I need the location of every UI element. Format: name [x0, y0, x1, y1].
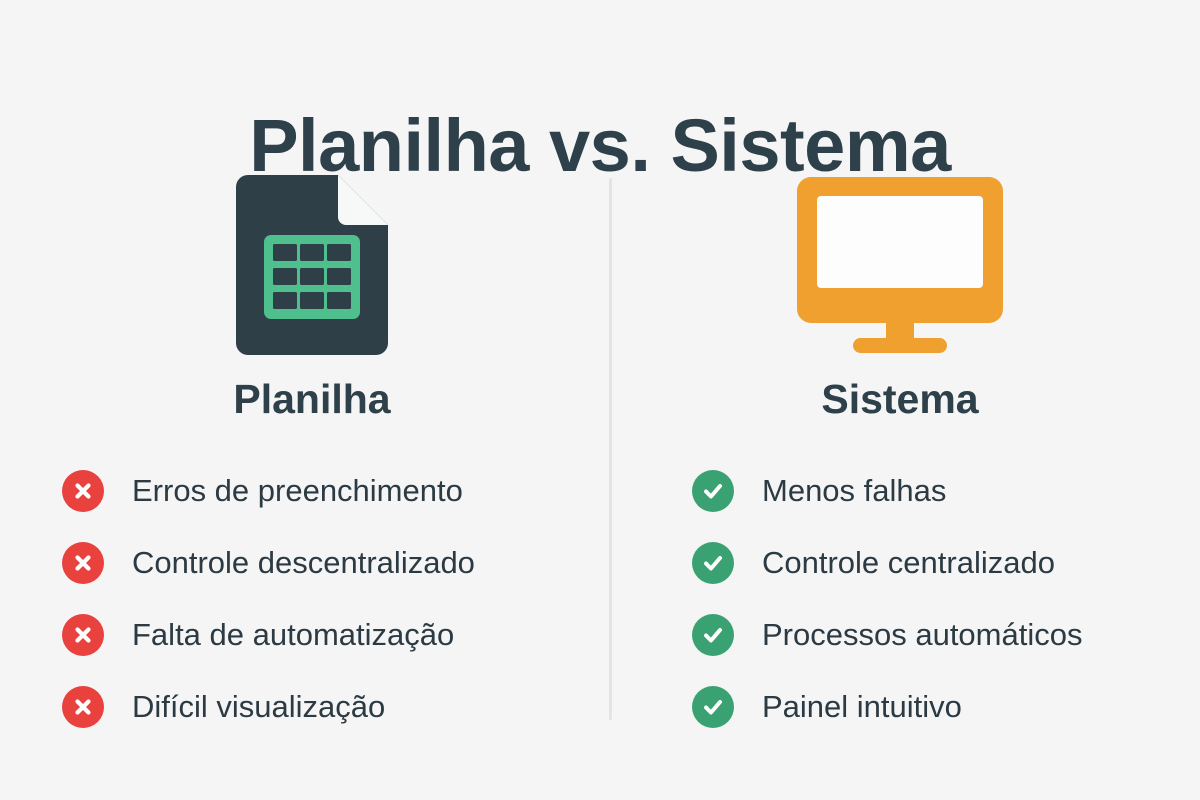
- column-sistema: Sistema Menos falhas Controle centraliza…: [600, 170, 1200, 770]
- feature-list-sistema: Menos falhas Controle centralizado Proce…: [692, 455, 1082, 743]
- list-item-label: Falta de automatização: [132, 617, 454, 653]
- list-item: Falta de automatização: [62, 599, 475, 671]
- list-item: Painel intuitivo: [692, 671, 1082, 743]
- column-heading-planilha: Planilha: [0, 375, 600, 423]
- spreadsheet-icon-wrap: [0, 170, 600, 360]
- list-item: Menos falhas: [692, 455, 1082, 527]
- cross-circle-icon: [62, 686, 104, 728]
- list-item: Controle descentralizado: [62, 527, 475, 599]
- feature-list-planilha: Erros de preenchimento Controle descentr…: [62, 455, 475, 743]
- cross-circle-icon: [62, 470, 104, 512]
- cross-circle-icon: [62, 542, 104, 584]
- comparison-infographic: Planilha vs. Sistema: [0, 0, 1200, 800]
- list-item-label: Processos automáticos: [762, 617, 1082, 653]
- list-item-label: Controle descentralizado: [132, 545, 475, 581]
- list-item-label: Controle centralizado: [762, 545, 1055, 581]
- check-circle-icon: [692, 470, 734, 512]
- spreadsheet-file-icon: [222, 175, 402, 355]
- list-item-label: Menos falhas: [762, 473, 946, 509]
- list-item: Difícil visualização: [62, 671, 475, 743]
- cross-circle-icon: [62, 614, 104, 656]
- list-item: Controle centralizado: [692, 527, 1082, 599]
- monitor-icon-wrap: [600, 170, 1200, 360]
- check-circle-icon: [692, 686, 734, 728]
- check-circle-icon: [692, 614, 734, 656]
- list-item-label: Difícil visualização: [132, 689, 385, 725]
- list-item: Processos automáticos: [692, 599, 1082, 671]
- desktop-monitor-icon: [797, 177, 1003, 353]
- list-item-label: Painel intuitivo: [762, 689, 962, 725]
- list-item-label: Erros de preenchimento: [132, 473, 463, 509]
- column-heading-sistema: Sistema: [600, 375, 1200, 423]
- list-item: Erros de preenchimento: [62, 455, 475, 527]
- check-circle-icon: [692, 542, 734, 584]
- column-planilha: Planilha Erros de preenchimento Controle…: [0, 170, 600, 770]
